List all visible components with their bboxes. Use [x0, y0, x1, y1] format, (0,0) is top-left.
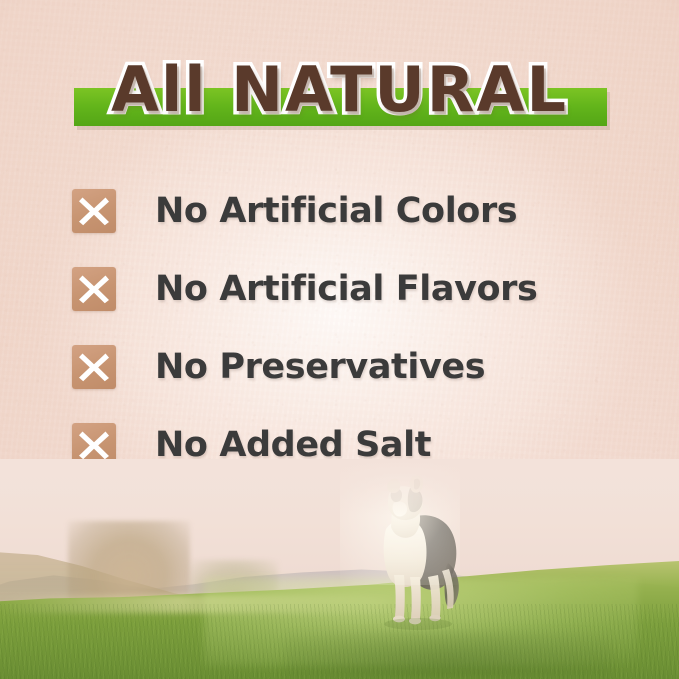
claim-label: No Artificial Colors — [155, 189, 517, 233]
x-mark-icon — [72, 345, 116, 389]
x-mark-icon — [72, 189, 116, 233]
claim-label: No Artificial Flavors — [155, 267, 537, 311]
dog-photo — [0, 459, 679, 679]
page-title: All NATURAL — [0, 46, 679, 134]
all-natural-product-poster: All NATURAL No Artificial Colors No Arti… — [0, 0, 679, 679]
photo-top-blend — [0, 459, 679, 517]
field-shadow — [285, 631, 611, 679]
claims-list: No Artificial Colors No Artificial Flavo… — [0, 172, 679, 484]
x-mark-icon — [72, 267, 116, 311]
list-item: No Artificial Colors — [0, 172, 679, 250]
list-item: No Artificial Flavors — [0, 250, 679, 328]
headline-banner: All NATURAL — [0, 46, 679, 142]
list-item: No Preservatives — [0, 328, 679, 406]
claim-label: No Preservatives — [155, 345, 485, 389]
